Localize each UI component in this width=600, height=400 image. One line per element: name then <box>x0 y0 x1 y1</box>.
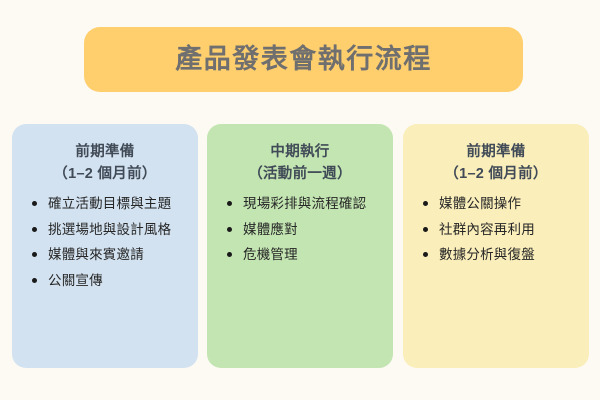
list-item: 社群內容再利用 <box>421 220 579 240</box>
bullet-dot-icon <box>423 227 428 232</box>
list-item-label: 挑選場地與設計風格 <box>48 222 171 237</box>
bullet-dot-icon <box>227 252 232 257</box>
list-item-label: 社群內容再利用 <box>439 222 535 237</box>
list-item-label: 危機管理 <box>243 247 298 262</box>
list-item-label: 確立活動目標與主題 <box>48 196 171 211</box>
page-title: 產品發表會執行流程 <box>175 46 432 73</box>
bullet-dot-icon <box>32 278 37 283</box>
phase-card-2-heading: 中期執行 （活動前一週） <box>215 141 385 186</box>
list-item-label: 數據分析與復盤 <box>439 247 535 262</box>
list-item-label: 媒體應對 <box>243 222 298 237</box>
list-item: 數據分析與復盤 <box>421 245 579 265</box>
list-item: 媒體與來賓邀請 <box>30 245 188 265</box>
phase-card-2: 中期執行 （活動前一週） 現場彩排與流程確認 媒體應對 危機管理 <box>207 124 393 368</box>
list-item: 媒體應對 <box>225 220 383 240</box>
phase-card-1: 前期準備 （1–2 個月前） 確立活動目標與主題 挑選場地與設計風格 媒體與來賓… <box>12 124 198 368</box>
phase-card-3-heading-line2: （1–2 個月前） <box>411 163 581 185</box>
phase-card-3-list: 媒體公關操作 社群內容再利用 數據分析與復盤 <box>411 194 581 265</box>
list-item: 現場彩排與流程確認 <box>225 194 383 214</box>
list-item-label: 媒體公關操作 <box>439 196 521 211</box>
list-item-label: 現場彩排與流程確認 <box>243 196 366 211</box>
infographic-root: 產品發表會執行流程 前期準備 （1–2 個月前） 確立活動目標與主題 挑選場地與… <box>0 0 600 400</box>
list-item: 公關宣傳 <box>30 271 188 291</box>
bullet-dot-icon <box>423 252 428 257</box>
phase-card-2-list: 現場彩排與流程確認 媒體應對 危機管理 <box>215 194 385 265</box>
phase-cards-row: 前期準備 （1–2 個月前） 確立活動目標與主題 挑選場地與設計風格 媒體與來賓… <box>0 124 600 369</box>
phase-card-2-heading-line1: 中期執行 <box>270 144 329 160</box>
list-item: 確立活動目標與主題 <box>30 194 188 214</box>
list-item-label: 媒體與來賓邀請 <box>48 247 144 262</box>
list-item-label: 公關宣傳 <box>48 273 103 288</box>
bullet-dot-icon <box>32 227 37 232</box>
phase-card-3-heading: 前期準備 （1–2 個月前） <box>411 141 581 186</box>
phase-card-1-heading-line1: 前期準備 <box>75 144 134 160</box>
list-item: 媒體公關操作 <box>421 194 579 214</box>
bullet-dot-icon <box>227 227 232 232</box>
list-item: 挑選場地與設計風格 <box>30 220 188 240</box>
phase-card-3: 前期準備 （1–2 個月前） 媒體公關操作 社群內容再利用 數據分析與復盤 <box>403 124 589 368</box>
bullet-dot-icon <box>32 201 37 206</box>
bullet-dot-icon <box>32 252 37 257</box>
bullet-dot-icon <box>423 201 428 206</box>
bullet-dot-icon <box>227 201 232 206</box>
phase-card-1-heading-line2: （1–2 個月前） <box>20 163 190 185</box>
title-banner: 產品發表會執行流程 <box>84 27 523 92</box>
phase-card-1-heading: 前期準備 （1–2 個月前） <box>20 141 190 186</box>
phase-card-3-heading-line1: 前期準備 <box>466 144 525 160</box>
list-item: 危機管理 <box>225 245 383 265</box>
phase-card-1-list: 確立活動目標與主題 挑選場地與設計風格 媒體與來賓邀請 公關宣傳 <box>20 194 190 290</box>
phase-card-2-heading-line2: （活動前一週） <box>215 163 385 185</box>
